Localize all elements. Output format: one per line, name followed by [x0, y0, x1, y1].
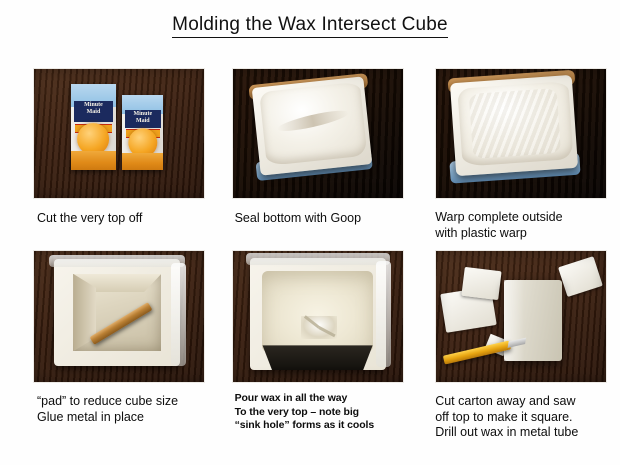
step-cell-1: MinuteMaid MinuteMaid: [0, 66, 207, 248]
caption-line: off top to make it square.: [435, 410, 614, 426]
caption-line: Cut carton away and saw: [435, 394, 614, 410]
sink-hole: [301, 316, 336, 339]
caption-line: “sink hole” forms as it cools: [235, 419, 408, 433]
caption-line: Pour wax in all the way: [235, 392, 408, 406]
step-cell-2: Seal bottom with Goop: [207, 66, 414, 248]
carton-bottom-sealed-with-goop-photo: [232, 68, 404, 199]
step-cell-4: “pad” to reduce cube size Glue metal in …: [0, 248, 207, 444]
carton-brand-label-2: MinuteMaid: [125, 110, 161, 128]
carton-interior-with-metal-tube-photo: [33, 250, 205, 383]
caption-line: with plastic warp: [435, 226, 614, 242]
caption-line: To the very top – note big: [235, 406, 408, 420]
wax-block: [504, 280, 562, 361]
wax-poured-with-sink-hole-photo: [232, 250, 404, 383]
caption-line: Drill out wax in metal tube: [435, 425, 614, 441]
step-cell-6: Cut carton away and saw off top to make …: [413, 248, 620, 444]
carton-brand-label: MinuteMaid: [74, 101, 113, 121]
steps-grid: MinuteMaid MinuteMaid: [0, 66, 620, 444]
step-cell-5: Pour wax in all the way To the very top …: [207, 248, 414, 444]
step-caption-5: Pour wax in all the way To the very top …: [207, 392, 414, 433]
steps-row-bottom: “pad” to reduce cube size Glue metal in …: [0, 248, 620, 444]
two-minute-maid-cartons-photo: MinuteMaid MinuteMaid: [33, 68, 205, 199]
caption-line: Warp complete outside: [435, 210, 614, 226]
caption-line: Cut the very top off: [37, 210, 201, 226]
caption-line: Glue metal in place: [37, 410, 201, 426]
carton-wrapped-in-plastic-wrap-photo: [435, 68, 607, 199]
steps-row-top: MinuteMaid MinuteMaid: [0, 66, 620, 248]
step-caption-1: Cut the very top off: [0, 210, 207, 226]
caption-line: “pad” to reduce cube size: [37, 394, 201, 410]
step-caption-4: “pad” to reduce cube size Glue metal in …: [0, 394, 207, 425]
slide-page: Molding the Wax Intersect Cube MinuteMai…: [0, 0, 620, 465]
page-title: Molding the Wax Intersect Cube: [172, 14, 448, 38]
page-title-container: Molding the Wax Intersect Cube: [0, 14, 620, 38]
wax-block-unwrapped-with-knife-photo: [435, 250, 607, 383]
step-caption-2: Seal bottom with Goop: [207, 210, 414, 226]
step-caption-3: Warp complete outside with plastic warp: [413, 210, 620, 241]
step-caption-6: Cut carton away and saw off top to make …: [413, 394, 620, 441]
step-cell-3: Warp complete outside with plastic warp: [413, 66, 620, 248]
caption-line: Seal bottom with Goop: [235, 210, 408, 226]
